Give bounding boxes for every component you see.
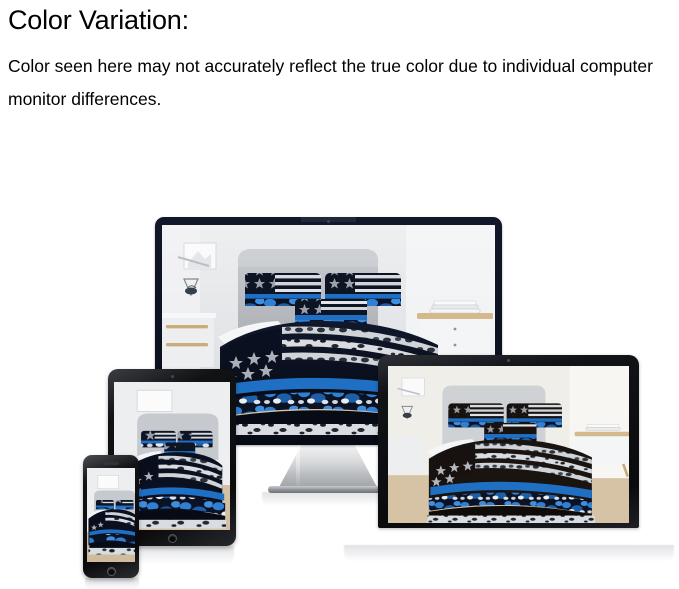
webcam-icon (327, 220, 330, 223)
laptop (378, 355, 639, 528)
bedroom-scene (388, 366, 629, 523)
color-variation-panel: Color Variation: Color seen here may not… (0, 0, 679, 589)
monitor-stand-neck (278, 444, 378, 489)
device-showcase (0, 0, 679, 589)
bedroom-illustration (87, 468, 135, 562)
phone-reflection (85, 578, 139, 589)
bedroom-scene (87, 468, 135, 562)
webcam-icon (507, 359, 510, 362)
smartphone (83, 455, 139, 578)
monitor-reflection (262, 492, 394, 506)
bedroom-illustration (388, 366, 629, 523)
home-button[interactable] (107, 567, 116, 576)
monitor-stand-base (268, 486, 388, 493)
laptop-reflection (344, 545, 674, 561)
front-camera-icon (171, 375, 174, 378)
laptop-screen (388, 366, 629, 523)
phone-screen (87, 468, 135, 562)
earpiece-speaker-icon (103, 462, 119, 465)
home-button[interactable] (168, 534, 177, 543)
